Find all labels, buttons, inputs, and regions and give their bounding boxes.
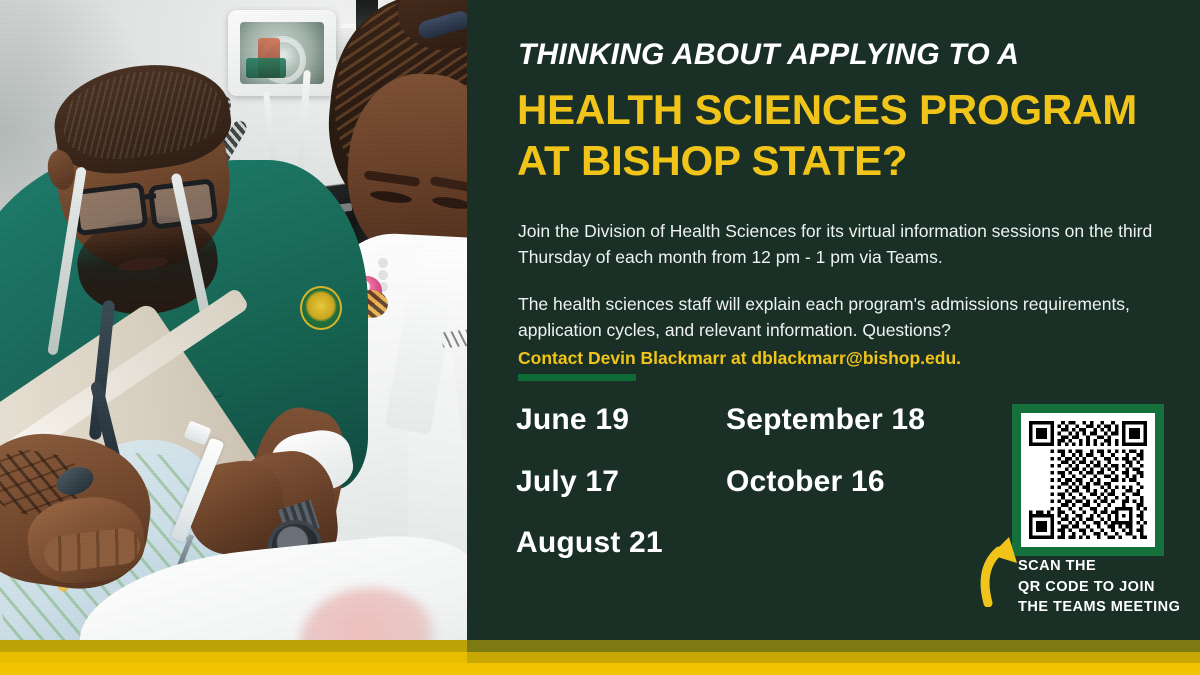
- qr-code-block[interactable]: [1012, 404, 1164, 556]
- footer-band-yellow: [0, 663, 1200, 675]
- date-item: October 16: [726, 466, 885, 498]
- scan-line-1: SCAN THE: [1018, 556, 1200, 577]
- clinical-photo: [0, 0, 467, 675]
- content-panel: THINKING ABOUT APPLYING TO A HEALTH SCIE…: [467, 0, 1200, 675]
- headline-line-2: AT BISHOP STATE?: [517, 135, 1197, 186]
- divider-rule: [518, 374, 636, 381]
- monitor-reflection-scrubs: [246, 58, 286, 78]
- date-row: June 19 September 18: [516, 404, 1036, 436]
- date-row: August 21: [516, 527, 1036, 559]
- footer-band-gold-over-photo: [0, 652, 467, 663]
- date-item: June 19: [516, 404, 726, 436]
- headline-line-1: HEALTH SCIENCES PROGRAM: [517, 84, 1197, 135]
- date-row: July 17 October 16: [516, 466, 1036, 498]
- kicker-text: THINKING ABOUT APPLYING TO A: [518, 38, 1178, 72]
- date-item: July 17: [516, 466, 726, 498]
- scan-instruction: SCAN THE QR CODE TO JOIN THE TEAMS MEETI…: [1018, 556, 1200, 618]
- date-item: August 21: [516, 527, 726, 559]
- contact-line[interactable]: Contact Devin Blackmarr at dblackmarr@bi…: [518, 345, 1186, 372]
- details-text: The health sciences staff will explain e…: [518, 294, 1130, 341]
- intro-paragraph: Join the Division of Health Sciences for…: [518, 218, 1186, 271]
- qr-code-icon[interactable]: [1029, 421, 1147, 539]
- date-item: September 18: [726, 404, 925, 436]
- scan-line-2: QR CODE TO JOIN: [1018, 577, 1200, 598]
- scan-line-3: THE TEAMS MEETING: [1018, 597, 1200, 618]
- qr-code-quiet-zone: [1021, 413, 1155, 547]
- session-dates-list: June 19 September 18 July 17 October 16 …: [516, 404, 1036, 589]
- flyer-canvas: THINKING ABOUT APPLYING TO A HEALTH SCIE…: [0, 0, 1200, 675]
- photo-grain: [0, 0, 467, 675]
- qr-code-frame: [1012, 404, 1164, 556]
- footer-band-olive-over-photo: [0, 640, 467, 652]
- page-title: HEALTH SCIENCES PROGRAM AT BISHOP STATE?: [517, 84, 1197, 186]
- details-paragraph: The health sciences staff will explain e…: [518, 291, 1186, 372]
